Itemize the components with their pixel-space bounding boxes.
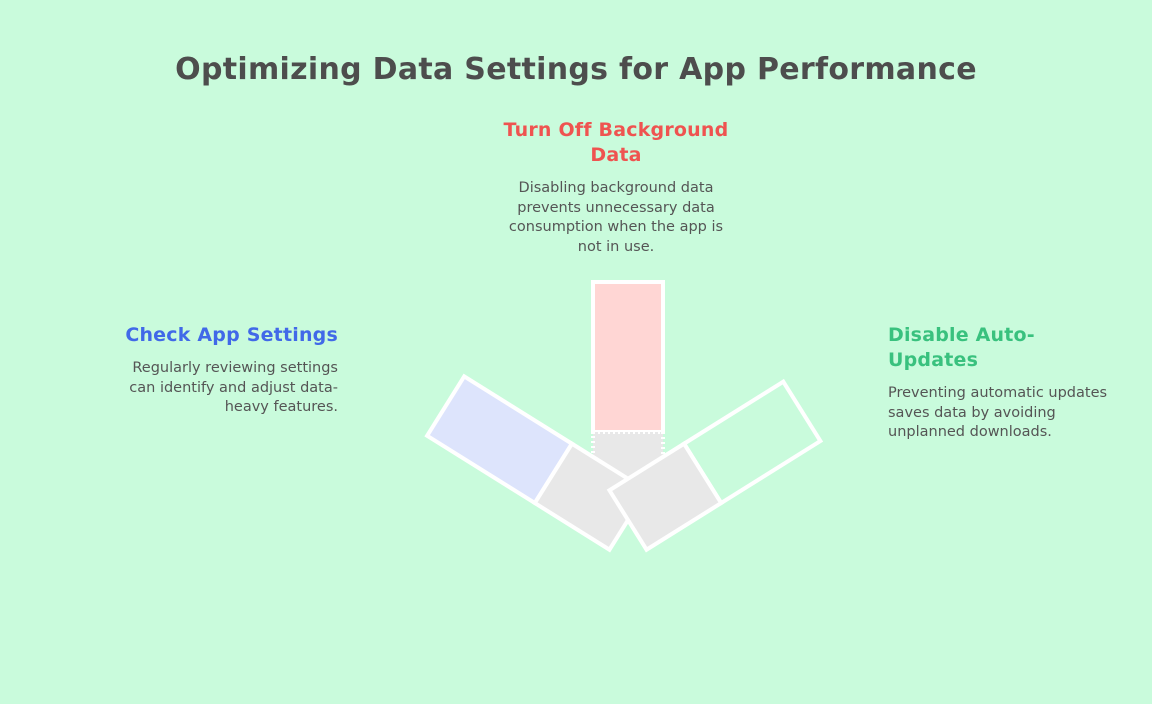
bar-center-value <box>593 282 663 432</box>
infographic-canvas: Optimizing Data Settings for App Perform… <box>0 0 1152 704</box>
callout-check-app-settings: Check App Settings Regularly reviewing s… <box>113 323 338 418</box>
callout-disable-auto-updates: Disable Auto-Updates Preventing automati… <box>888 323 1118 443</box>
callout-right-description: Preventing automatic updates saves data … <box>888 384 1118 443</box>
callout-left-description: Regularly reviewing settings can identif… <box>113 359 338 418</box>
callout-top-title: Turn Off Background Data <box>496 118 736 168</box>
callout-turn-off-background-data: Turn Off Background Data Disabling backg… <box>496 118 736 257</box>
callout-left-title: Check App Settings <box>113 323 338 348</box>
callout-right-title: Disable Auto-Updates <box>888 323 1118 373</box>
callout-top-description: Disabling background data prevents unnec… <box>496 179 736 257</box>
